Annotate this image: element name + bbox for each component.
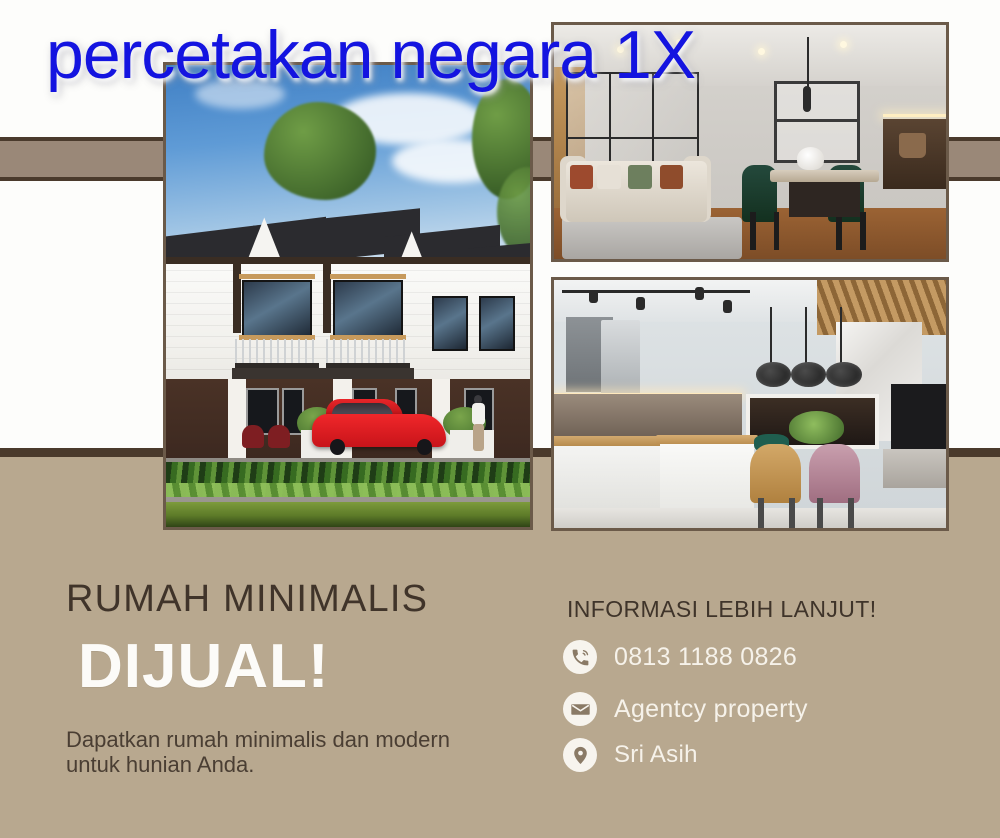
wall-art-divider — [774, 119, 860, 122]
window — [333, 280, 402, 340]
window-ledge — [239, 274, 315, 279]
balcony-railing — [235, 339, 319, 369]
window — [432, 296, 468, 351]
island-countertop — [656, 435, 758, 444]
bar-stool-pink — [809, 444, 860, 504]
chair-leg — [836, 212, 842, 249]
lawn — [166, 502, 530, 527]
patio-chair — [242, 425, 264, 448]
pendant-lamp — [826, 362, 861, 387]
person — [472, 395, 485, 450]
backsplash — [554, 394, 742, 439]
window-ledge — [330, 274, 406, 279]
pendant-cord — [840, 307, 842, 364]
pendant-cord — [807, 37, 809, 88]
photo-house-exterior — [163, 62, 533, 530]
promo-headline: RUMAH MINIMALIS — [66, 578, 428, 621]
map-pin-icon — [563, 738, 597, 772]
car-wheel — [330, 439, 345, 455]
bench-seat — [883, 449, 946, 489]
chair-leg — [860, 212, 866, 249]
stool-leg — [758, 498, 764, 528]
cushion — [597, 165, 621, 188]
stool-leg — [848, 498, 854, 528]
tree — [264, 102, 376, 200]
patio-chair — [268, 425, 290, 448]
promo-title: DIJUAL! — [78, 636, 330, 698]
stool-leg — [817, 498, 823, 528]
watermark-text: percetakan negara 1X — [46, 16, 695, 94]
pendant-cord — [805, 307, 807, 364]
pendant-cord — [770, 307, 772, 364]
range-hood — [601, 320, 640, 399]
beam — [323, 259, 331, 333]
photo-kitchen — [551, 277, 949, 531]
envelope-icon — [563, 692, 597, 726]
beam — [233, 259, 241, 333]
cushion — [660, 165, 684, 188]
partition-mullion — [566, 137, 699, 139]
television — [891, 384, 946, 448]
flyer-canvas: RUMAH MINIMALIS DIJUAL! Dapatkan rumah m… — [0, 0, 1000, 838]
location-name: Sri Asih — [614, 741, 698, 769]
floor — [554, 508, 946, 528]
cushion — [628, 165, 652, 188]
plant — [789, 411, 844, 443]
email-label: Agentcy property — [614, 695, 808, 724]
phone-icon — [563, 640, 597, 674]
spotlight — [723, 300, 732, 313]
handbag-decor — [899, 133, 926, 159]
cushion — [570, 165, 594, 188]
balcony-railing — [326, 339, 410, 369]
window — [479, 296, 515, 351]
contact-location[interactable]: Sri Asih — [563, 738, 698, 772]
contact-phone[interactable]: 0813 1188 0826 — [563, 640, 797, 674]
pendant-lamp — [791, 362, 826, 387]
area-rug — [562, 217, 742, 259]
promo-subtitle: Dapatkan rumah minimalis dan modern untu… — [66, 728, 486, 777]
chair-leg — [750, 212, 756, 249]
phone-number: 0813 1188 0826 — [614, 643, 797, 672]
bar-stool-tan — [750, 444, 801, 504]
contact-email[interactable]: Agentcy property — [563, 692, 808, 726]
spotlight — [636, 297, 645, 310]
window — [242, 280, 311, 340]
beam — [166, 257, 530, 264]
pendant-lamp — [803, 86, 811, 112]
info-section-title: INFORMASI LEBIH LANJUT! — [567, 596, 877, 623]
dining-table-base — [789, 179, 860, 216]
spotlight — [695, 287, 704, 300]
pendant-lamp — [756, 362, 791, 387]
dining-table — [770, 170, 880, 182]
led-strip — [883, 114, 946, 117]
spotlight — [589, 290, 598, 303]
stool-leg — [789, 498, 795, 528]
centerpiece-vase — [797, 147, 824, 170]
chair-leg — [774, 212, 780, 249]
